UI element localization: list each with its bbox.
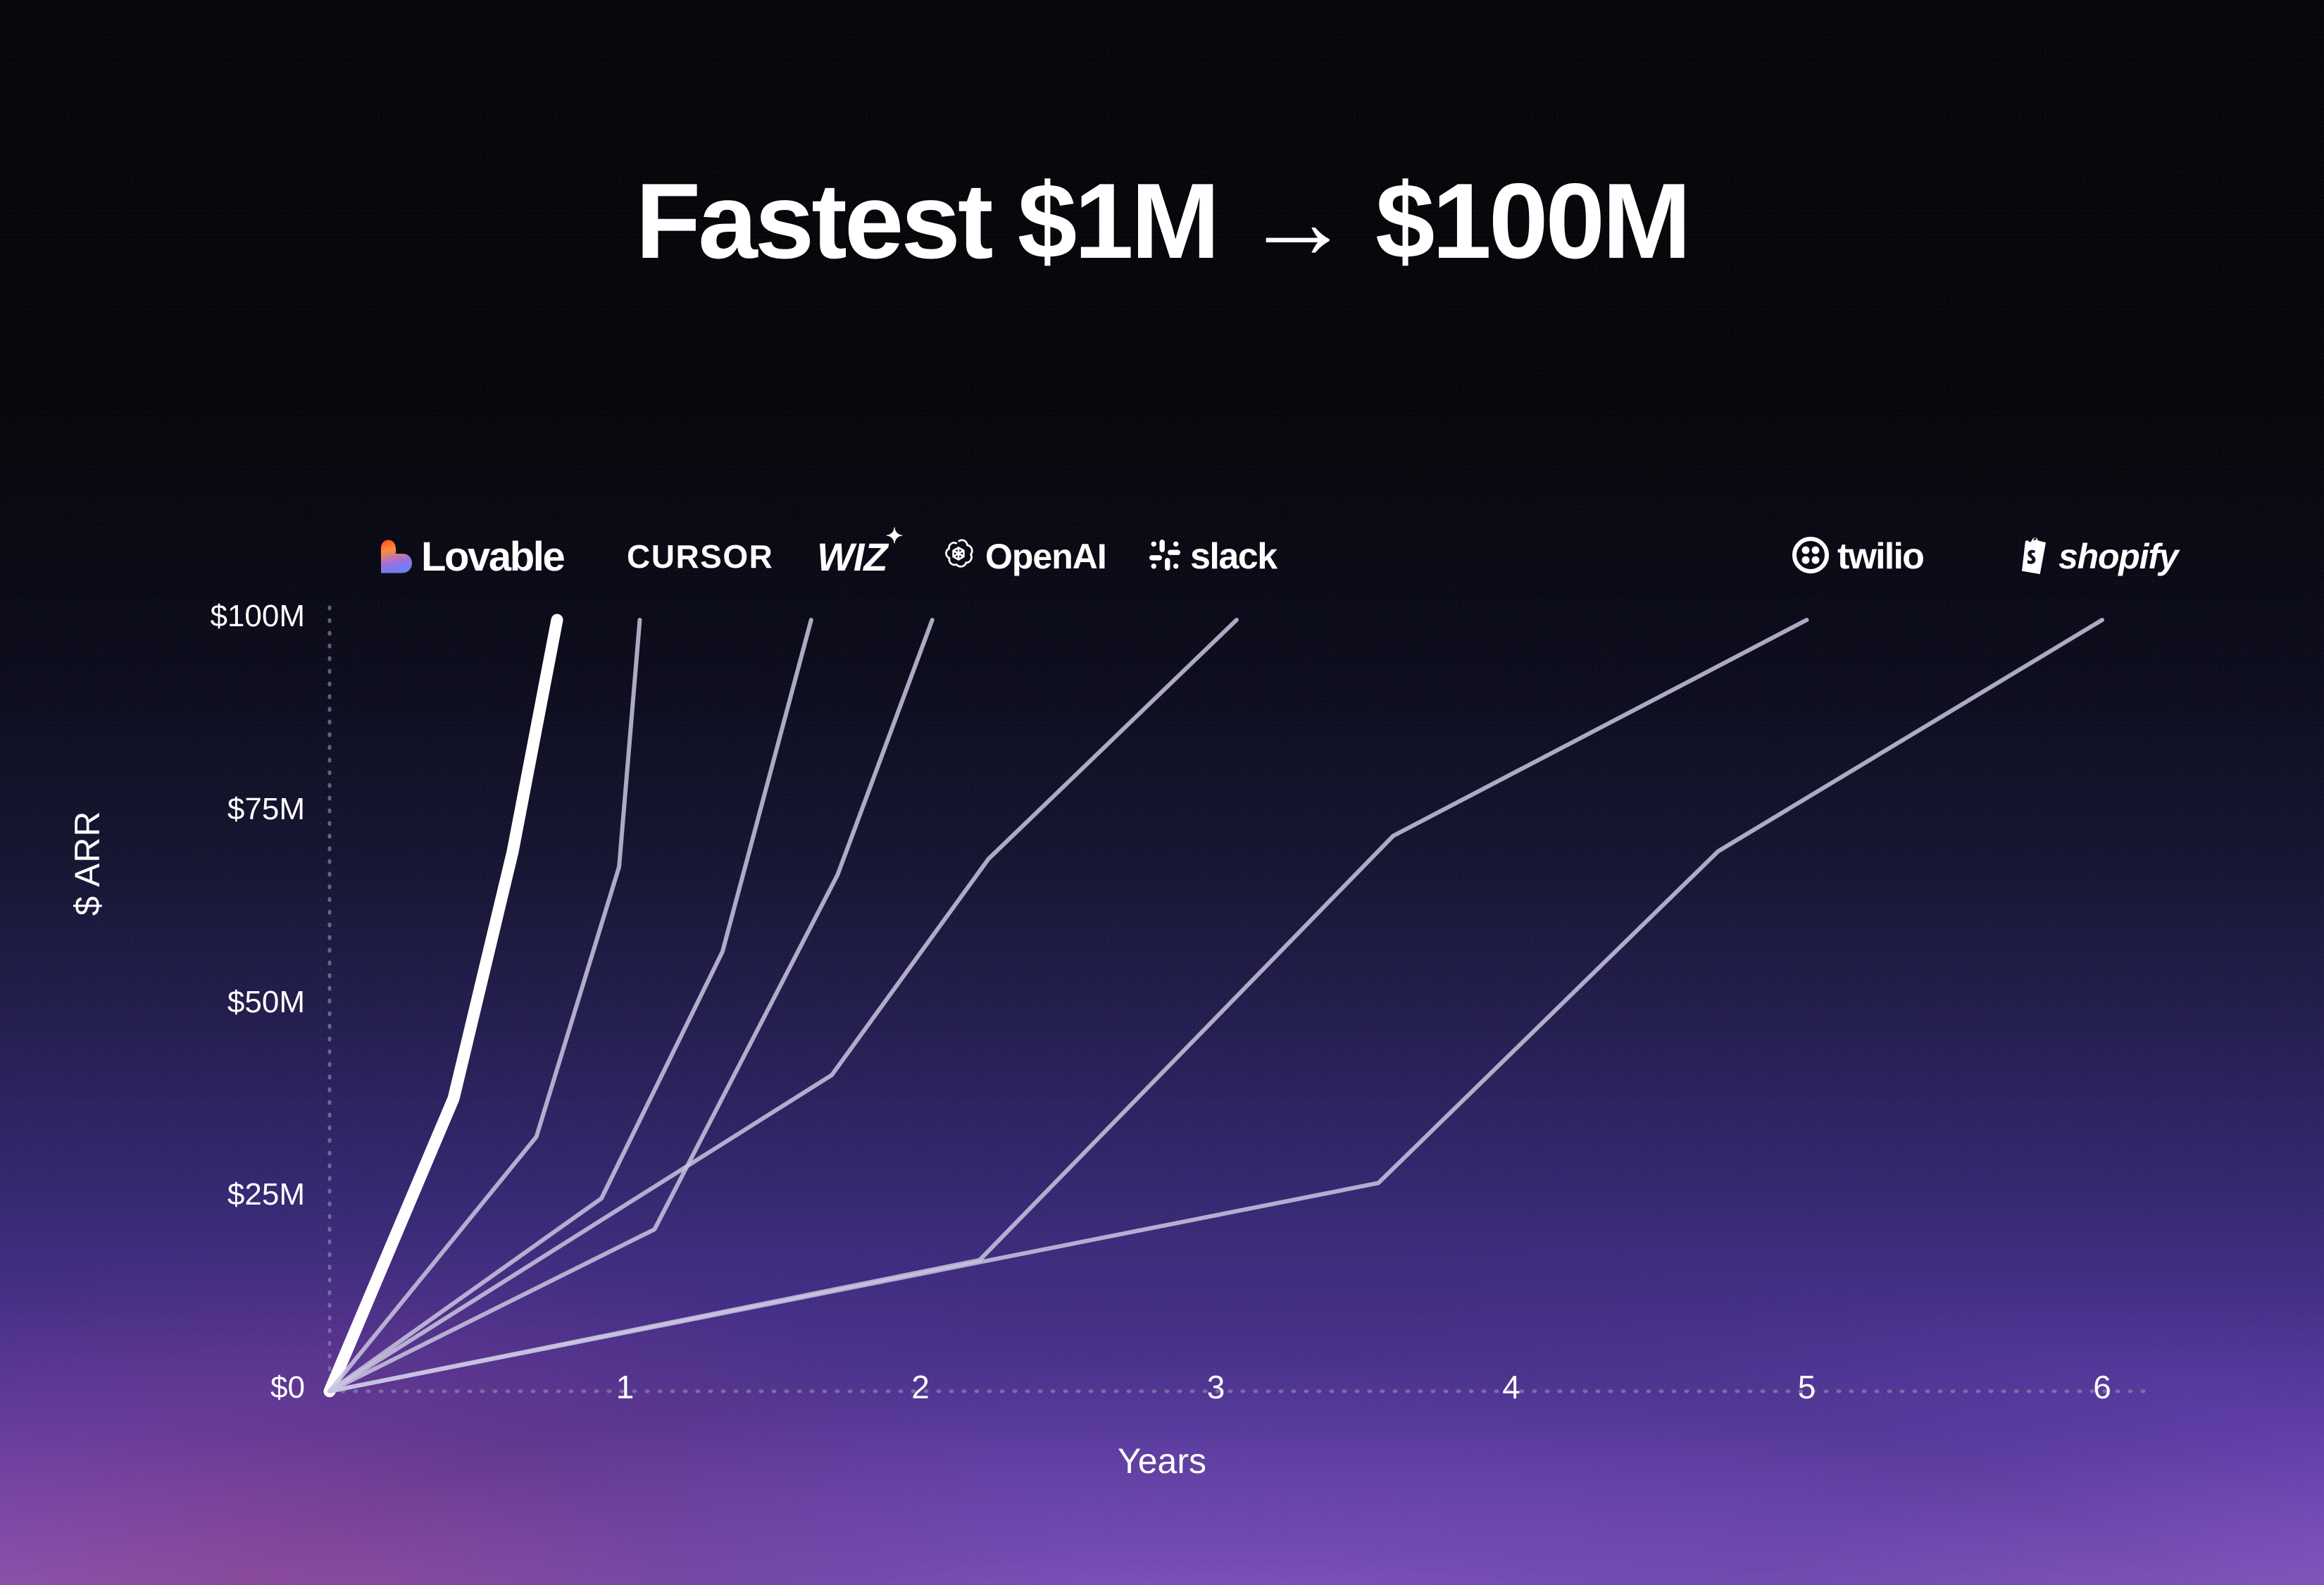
y-axis-label: $ ARR <box>67 810 108 916</box>
legend-item-shopify[interactable]: shopify <box>2018 530 2178 583</box>
x-tick-1: 1 <box>597 1368 654 1406</box>
y-tick-$50M: $50M <box>136 985 305 1020</box>
x-tick-2: 2 <box>892 1368 949 1406</box>
lovable-heart-icon <box>380 539 413 574</box>
legend-item-wiz[interactable]: WIZ ✦ <box>817 530 887 583</box>
legend-label-slack: slack <box>1190 535 1277 578</box>
openai-knot-icon <box>940 537 977 577</box>
y-tick-$0: $0 <box>136 1370 305 1405</box>
x-tick-5: 5 <box>1779 1368 1835 1406</box>
sparkle-icon: ✦ <box>885 524 902 549</box>
twilio-dots-icon <box>1792 537 1829 577</box>
page-title: Fastest $1M → $100M <box>0 168 2324 275</box>
legend-item-cursor[interactable]: CURSOR <box>627 530 773 583</box>
legend-label-twilio: twilio <box>1837 535 1923 578</box>
legend-label-wiz: WIZ <box>817 535 887 579</box>
x-axis-label: Years <box>0 1441 2324 1481</box>
cursor-wordmark-icon: CURSOR <box>627 537 773 576</box>
legend-item-slack[interactable]: slack <box>1148 530 1277 583</box>
legend-label-lovable: Lovable <box>421 533 563 580</box>
legend: Lovable CURSOR WIZ ✦ OpenAI <box>0 530 2324 583</box>
wiz-sparkle-icon: WIZ ✦ <box>817 534 887 580</box>
y-tick-$100M: $100M <box>136 599 305 634</box>
slack-hash-icon <box>1148 538 1182 576</box>
legend-label-shopify: shopify <box>2059 536 2178 577</box>
legend-item-twilio[interactable]: twilio <box>1792 530 1923 583</box>
legend-item-lovable[interactable]: Lovable <box>380 530 563 583</box>
legend-item-openai[interactable]: OpenAI <box>940 530 1106 583</box>
legend-label-openai: OpenAI <box>985 536 1106 577</box>
x-tick-3: 3 <box>1188 1368 1244 1406</box>
x-tick-6: 6 <box>2074 1368 2130 1406</box>
x-tick-4: 4 <box>1483 1368 1539 1406</box>
y-tick-$25M: $25M <box>136 1177 305 1212</box>
y-tick-$75M: $75M <box>136 792 305 827</box>
shopify-bag-icon <box>2018 536 2050 578</box>
